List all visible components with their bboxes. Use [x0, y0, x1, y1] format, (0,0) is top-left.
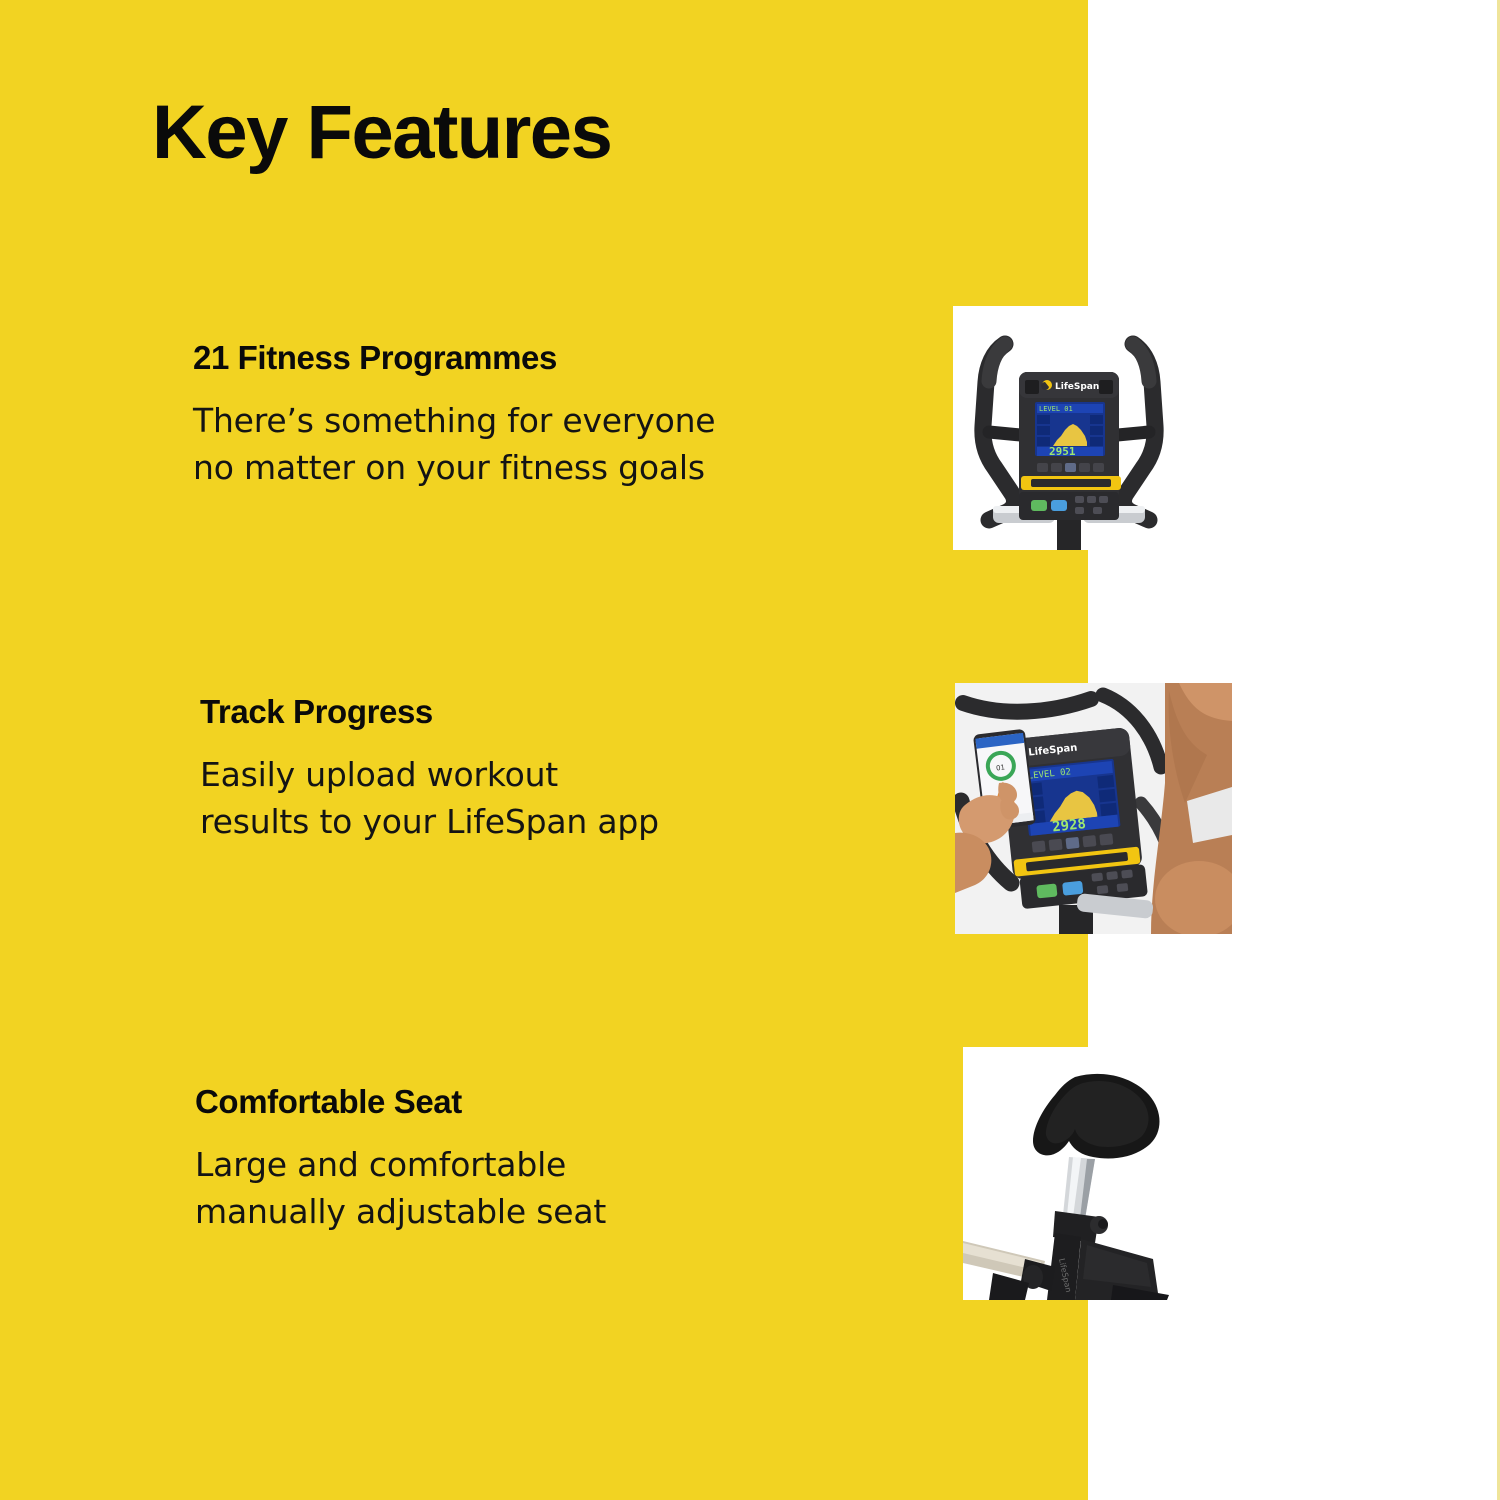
key-features-page: Key Features 21 Fitness Programmes There…: [0, 0, 1500, 1500]
feature-1-body: There’s something for everyone no matter…: [193, 398, 738, 492]
feature-2-photo: LifeSpan LEVEL 02 2928: [955, 683, 1232, 934]
feature-3-title: Comfortable Seat: [195, 1084, 715, 1120]
feature-3-photo: LifeSpan: [963, 1047, 1185, 1300]
feature-block-3: Comfortable Seat Large and comfortable m…: [195, 1084, 715, 1236]
feature-block-2: Track Progress Easily upload workout res…: [200, 694, 700, 846]
feature-1-title: 21 Fitness Programmes: [193, 340, 753, 376]
feature-2-body: Easily upload workout results to your Li…: [200, 752, 670, 846]
svg-text:01: 01: [996, 763, 1006, 772]
page-title: Key Features: [152, 95, 611, 171]
feature-1-photo: LifeSpan LEVEL 01 2951: [953, 306, 1185, 550]
feature-2-title: Track Progress: [200, 694, 700, 730]
feature-block-1: 21 Fitness Programmes There’s something …: [193, 340, 753, 492]
svg-text:2951: 2951: [1049, 445, 1076, 458]
svg-text:LifeSpan: LifeSpan: [1055, 382, 1099, 392]
feature-3-body: Large and comfortable manually adjustabl…: [195, 1142, 705, 1236]
svg-text:LEVEL 01: LEVEL 01: [1039, 405, 1073, 413]
